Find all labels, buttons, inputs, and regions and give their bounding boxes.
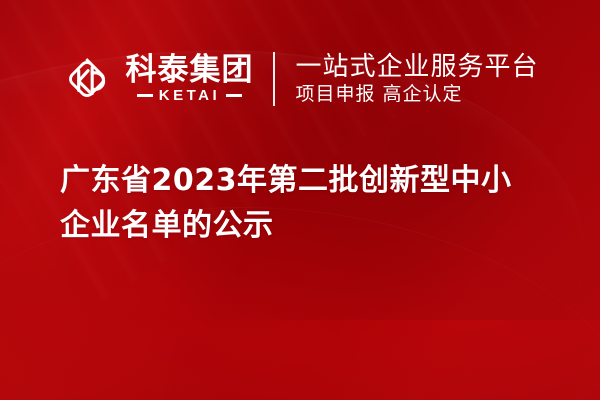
promo-banner: 科泰集团 KETAI 一站式企业服务平台 项目申报 高企认定 广东省2023年第… bbox=[0, 0, 600, 400]
brand-dash-left-icon bbox=[137, 94, 153, 97]
header-vertical-divider bbox=[273, 52, 275, 106]
brand-dash-right-icon bbox=[226, 94, 242, 97]
tagline-primary: 一站式企业服务平台 bbox=[295, 53, 538, 81]
brand-wordmark: 科泰集团 KETAI bbox=[125, 55, 253, 103]
brand-lockup: 科泰集团 KETAI bbox=[61, 52, 253, 106]
tagline-secondary: 项目申报 高企认定 bbox=[295, 84, 538, 105]
tagline-block: 一站式企业服务平台 项目申报 高企认定 bbox=[295, 53, 538, 105]
page-title: 广东省2023年第二批创新型中小企业名单的公示 bbox=[60, 158, 540, 248]
banner-header: 科泰集团 KETAI 一站式企业服务平台 项目申报 高企认定 bbox=[0, 34, 600, 124]
brand-en-row: KETAI bbox=[125, 88, 253, 103]
brand-name-cn: 科泰集团 bbox=[125, 55, 253, 86]
ketai-diamond-monogram-icon bbox=[61, 52, 113, 106]
brand-name-en: KETAI bbox=[159, 88, 220, 103]
